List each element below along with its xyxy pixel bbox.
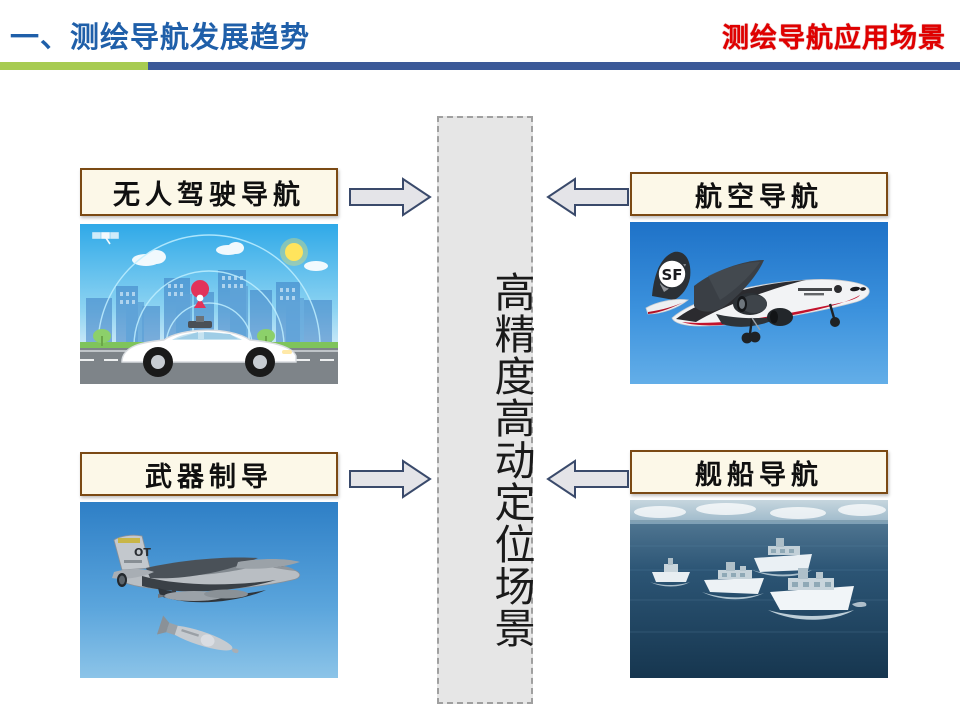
header-rule-green-segment bbox=[0, 62, 148, 70]
card-label-autonomous: 无人驾驶导航 bbox=[80, 168, 338, 216]
center-scenario-label: 高精度高动定位场景 bbox=[439, 250, 531, 670]
slide-header: 一、测绘导航发展趋势 测绘导航应用场景 bbox=[0, 0, 960, 72]
section-title: 测绘导航应用场景 bbox=[722, 16, 946, 55]
header-divider-rule bbox=[0, 62, 960, 70]
card-image-naval-ships bbox=[630, 500, 888, 678]
arrow-right-icon-autonomous-to-center bbox=[348, 176, 432, 218]
arrow-left-icon-aviation-to-center bbox=[546, 176, 630, 218]
card-image-fighter-jet: OT bbox=[80, 502, 338, 678]
header-rule-blue-segment bbox=[148, 62, 960, 70]
card-label-text: 无人驾驶导航 bbox=[113, 173, 305, 212]
card-label-text: 航空导航 bbox=[695, 175, 823, 214]
card-label-ship: 舰船导航 bbox=[630, 450, 888, 494]
card-aviation-navigation: 航空导航 bbox=[630, 172, 888, 384]
card-image-autonomous-car bbox=[80, 224, 338, 384]
card-label-weapon: 武器制导 bbox=[80, 452, 338, 496]
card-label-aviation: 航空导航 bbox=[630, 172, 888, 216]
arrow-right-icon-weapon-to-center bbox=[348, 458, 432, 500]
card-ship-navigation: 舰船导航 bbox=[630, 450, 888, 678]
card-image-cargo-airplane: SF bbox=[630, 222, 888, 384]
card-label-text: 武器制导 bbox=[145, 455, 273, 494]
card-weapon-guidance: 武器制导 OT bbox=[80, 452, 338, 678]
arrow-left-icon-ship-to-center bbox=[546, 458, 630, 500]
page-title: 一、测绘导航发展趋势 bbox=[10, 14, 310, 56]
svg-text:SF: SF bbox=[661, 266, 682, 284]
card-label-text: 舰船导航 bbox=[695, 453, 823, 492]
card-autonomous-navigation: 无人驾驶导航 bbox=[80, 168, 338, 384]
center-scenario-panel: 高精度高动定位场景 bbox=[437, 116, 533, 704]
svg-text:OT: OT bbox=[134, 546, 151, 559]
